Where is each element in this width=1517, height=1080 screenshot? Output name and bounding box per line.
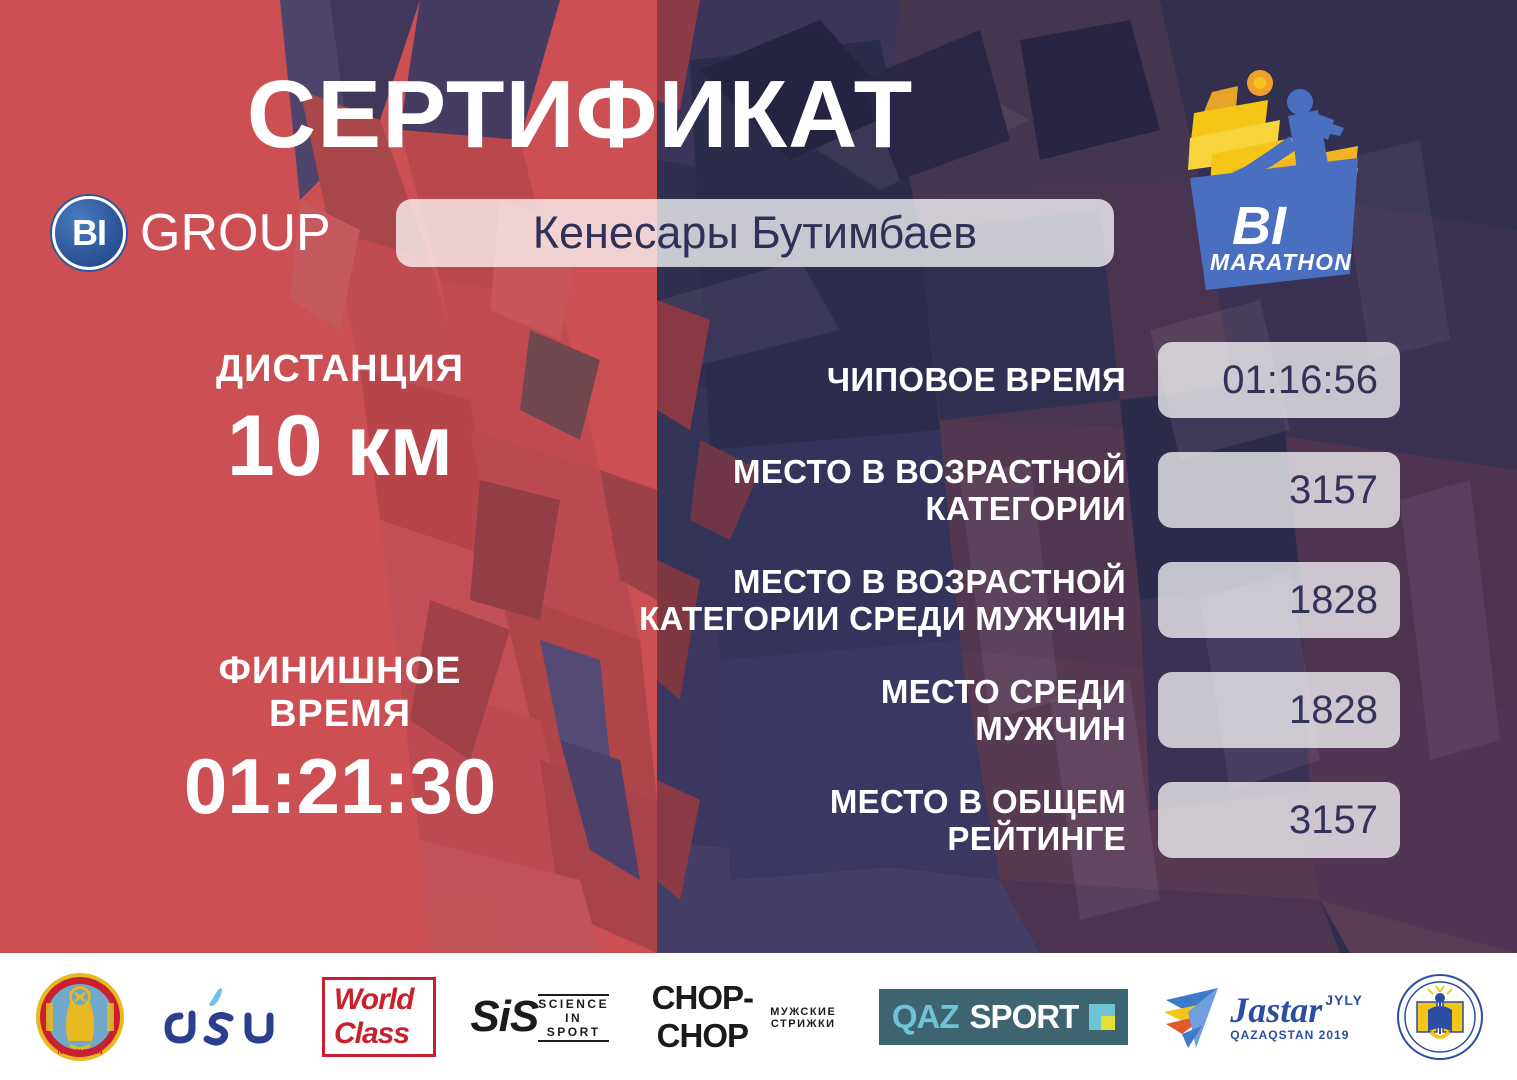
stat-value-age-category-men-place: 1828: [1289, 578, 1378, 623]
nur-sultan-emblem-icon: NUR-SULTAN: [34, 971, 126, 1063]
distance-value: 10 км: [120, 397, 560, 496]
sponsor-asu: [160, 969, 288, 1065]
bi-badge-label: BI: [72, 212, 106, 254]
finish-time-value: 01:21:30: [120, 741, 560, 832]
stat-pill-age-category-men-place: 1828: [1158, 562, 1400, 638]
bi-marathon-logo: BI MARATHON: [1172, 58, 1380, 306]
bi-group-logo: BI GROUP: [52, 196, 331, 270]
stat-pill-men-place: 1828: [1158, 672, 1400, 748]
sis-label: SiS: [470, 995, 538, 1039]
distance-label: ДИСТАНЦИЯ: [120, 348, 560, 391]
sponsor-qazsport: QAZ SPORT: [879, 969, 1128, 1065]
jastar-jyly-label: JYLY: [1325, 992, 1363, 1008]
qazsport-label-qaz: QAZ: [892, 998, 959, 1036]
stat-pill-chip-time: 01:16:56: [1158, 342, 1400, 418]
logo-marathon-text: MARATHON: [1210, 249, 1352, 275]
world-class-label: World Class: [334, 983, 424, 1051]
jastar-label: Jastar: [1230, 992, 1322, 1028]
sponsor-jastar-jyly: Jastar JYLY QAZAQSTAN 2019: [1162, 969, 1363, 1065]
stat-label-men-place: МЕСТО СРЕДИ МУЖЧИН: [520, 673, 1126, 748]
distance-block: ДИСТАНЦИЯ 10 км: [120, 348, 560, 496]
stat-row: МЕСТО В ВОЗРАСТНОЙ КАТЕГОРИИ 3157: [520, 452, 1400, 528]
stat-pill-age-category-place: 3157: [1158, 452, 1400, 528]
athlete-name-pill: Кенесары Бутимбаев: [396, 199, 1114, 267]
stat-pill-overall-place: 3157: [1158, 782, 1400, 858]
stat-label-overall-place: МЕСТО В ОБЩЕМ РЕЙТИНГЕ: [520, 783, 1126, 858]
stat-row: ЧИПОВОЕ ВРЕМЯ 01:16:56: [520, 342, 1400, 418]
stat-value-overall-place: 3157: [1289, 798, 1378, 843]
stat-value-age-category-place: 3157: [1289, 468, 1378, 513]
sponsor-bar: NUR-SULTAN World Class SiS SCIENCE IN SP…: [0, 953, 1517, 1080]
stat-value-chip-time: 01:16:56: [1222, 358, 1378, 403]
athlete-name: Кенесары Бутимбаев: [533, 207, 977, 259]
sponsor-nur-sultan: NUR-SULTAN: [34, 969, 126, 1065]
certificate-page: СЕРТИФИКАТ BI GROUP Кенесары Бутимбаев: [0, 0, 1517, 1080]
stat-row: МЕСТО В ВОЗРАСТНОЙ КАТЕГОРИИ СРЕДИ МУЖЧИ…: [520, 562, 1400, 638]
sponsor-ministry-seal: [1397, 969, 1483, 1065]
qazsport-label-sport: SPORT: [970, 998, 1079, 1036]
bi-badge-icon: BI: [52, 196, 126, 270]
jastar-sublabel: QAZAQSTAN 2019: [1230, 1028, 1363, 1042]
logo-bi-text: BI: [1232, 196, 1287, 256]
page-title: СЕРТИФИКАТ: [0, 62, 1160, 168]
finish-time-block: ФИНИШНОЕ ВРЕМЯ 01:21:30: [120, 650, 560, 832]
ministry-seal-icon: [1397, 974, 1483, 1060]
stat-row: МЕСТО В ОБЩЕМ РЕЙТИНГЕ 3157: [520, 782, 1400, 858]
nur-sultan-label: NUR-SULTAN: [58, 1049, 103, 1056]
finish-time-label: ФИНИШНОЕ ВРЕМЯ: [120, 650, 560, 735]
jastar-arrow-icon: [1162, 982, 1224, 1052]
bi-group-wordmark: GROUP: [140, 203, 331, 263]
stat-label-age-category-men-place: МЕСТО В ВОЗРАСТНОЙ КАТЕГОРИИ СРЕДИ МУЖЧИ…: [520, 563, 1126, 638]
sponsor-sis: SiS SCIENCE IN SPORT: [470, 969, 609, 1065]
stat-value-men-place: 1828: [1289, 688, 1378, 733]
sponsor-chop-chop: CHOP-CHOP МУЖСКИЕ СТРИЖКИ: [643, 969, 845, 1065]
sis-sublabel: SCIENCE IN SPORT: [538, 994, 609, 1042]
stat-label-age-category-place: МЕСТО В ВОЗРАСТНОЙ КАТЕГОРИИ: [520, 453, 1126, 528]
asu-logo-icon: [160, 986, 288, 1048]
sponsor-world-class: World Class: [322, 969, 436, 1065]
stat-label-chip-time: ЧИПОВОЕ ВРЕМЯ: [520, 361, 1126, 398]
stat-row: МЕСТО СРЕДИ МУЖЧИН 1828: [520, 672, 1400, 748]
qazsport-square-icon: [1089, 1004, 1115, 1030]
chop-chop-label: CHOP-CHOP: [643, 979, 762, 1055]
chop-chop-sublabel: МУЖСКИЕ СТРИЖКИ: [762, 1006, 845, 1030]
